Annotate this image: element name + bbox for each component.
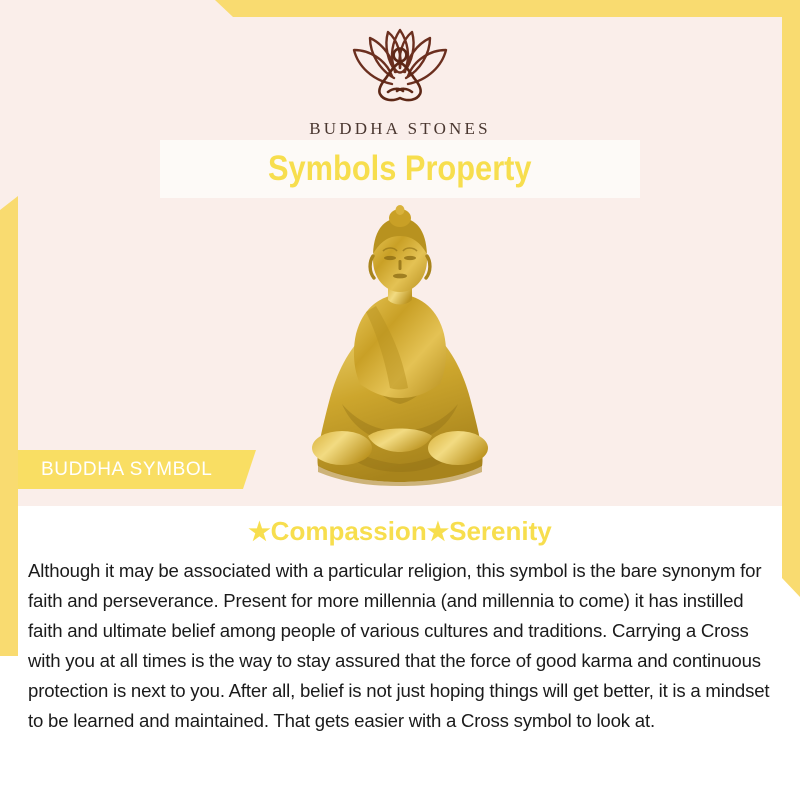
buddha-symbol-ribbon-label: BUDDHA SYMBOL: [41, 459, 212, 481]
page-title-band: Symbols Property: [160, 140, 640, 198]
content-section: ★Compassion★Serenity Although it may be …: [0, 506, 800, 800]
left-accent-band: [0, 196, 18, 656]
buddha-statue-image: [270, 198, 530, 488]
section-body-text: Although it may be associated with a par…: [28, 556, 770, 736]
subheading-word-serenity: Serenity: [449, 516, 552, 546]
buddha-symbol-ribbon: BUDDHA SYMBOL: [18, 450, 256, 489]
symbols-property-page: BUDDHA STONES Symbols Property: [0, 0, 800, 800]
star-icon-left: ★: [248, 518, 270, 546]
right-accent-band: [782, 0, 800, 597]
brand-wordmark: BUDDHA STONES: [0, 119, 800, 139]
lotus-meditation-icon: [320, 22, 480, 110]
subheading-word-compassion: Compassion: [271, 516, 427, 546]
golden-buddha-statue: [270, 198, 530, 488]
page-title: Symbols Property: [268, 149, 532, 189]
section-subheading: ★Compassion★Serenity: [0, 516, 800, 547]
brand-logo: BUDDHA STONES: [0, 22, 800, 139]
star-icon-right: ★: [427, 518, 449, 546]
